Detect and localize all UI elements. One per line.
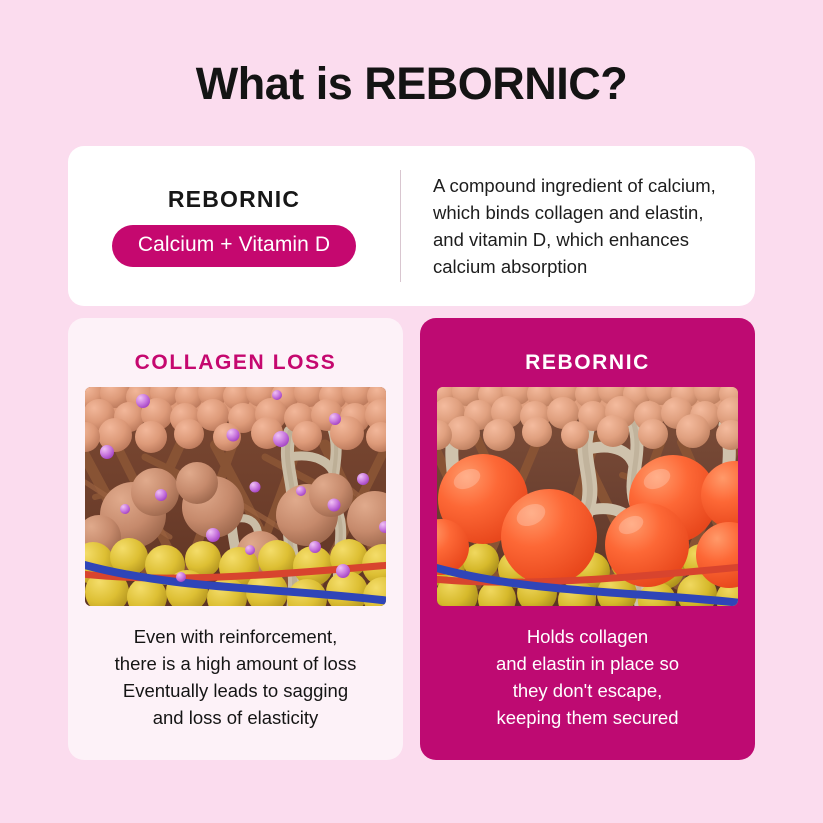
caption-line: there is a high amount of loss [68,650,403,677]
infographic-page: What is REBORNIC? REBORNIC Calcium + Vit… [0,0,823,823]
intro-description: A compound ingredient of calcium, which … [433,172,733,280]
card-heading-collagen-loss: COLLAGEN LOSS [68,351,403,375]
intro-card: REBORNIC Calcium + Vitamin D A compound … [68,146,755,306]
brand-name: REBORNIC [168,186,300,213]
brand-ingredient-pill: Calcium + Vitamin D [112,225,356,267]
caption-line: and loss of elasticity [68,704,403,731]
skin-illustration-rebornic-icon [437,387,738,606]
card-heading-rebornic: REBORNIC [420,351,755,375]
page-title: What is REBORNIC? [0,58,823,110]
caption-line: Holds collagen [420,623,755,650]
caption-line: Even with reinforcement, [68,623,403,650]
caption-line: and elastin in place so [420,650,755,677]
card-caption-collagen-loss: Even with reinforcement, there is a high… [68,623,403,731]
caption-line: keeping them secured [420,704,755,731]
skin-cross-section-rebornic-figure [437,387,738,606]
comparison-card-collagen-loss: COLLAGEN LOSS [68,318,403,760]
caption-line: Eventually leads to sagging [68,677,403,704]
card-caption-rebornic: Holds collagen and elastin in place so t… [420,623,755,731]
skin-cross-section-collagen-loss-figure [85,387,386,606]
brand-column: REBORNIC Calcium + Vitamin D [68,186,400,267]
caption-line: they don't escape, [420,677,755,704]
description-column: A compound ingredient of calcium, which … [401,172,755,280]
comparison-card-rebornic: REBORNIC [420,318,755,760]
comparison-row: COLLAGEN LOSS [68,318,755,760]
skin-illustration-loss-icon [85,387,386,606]
